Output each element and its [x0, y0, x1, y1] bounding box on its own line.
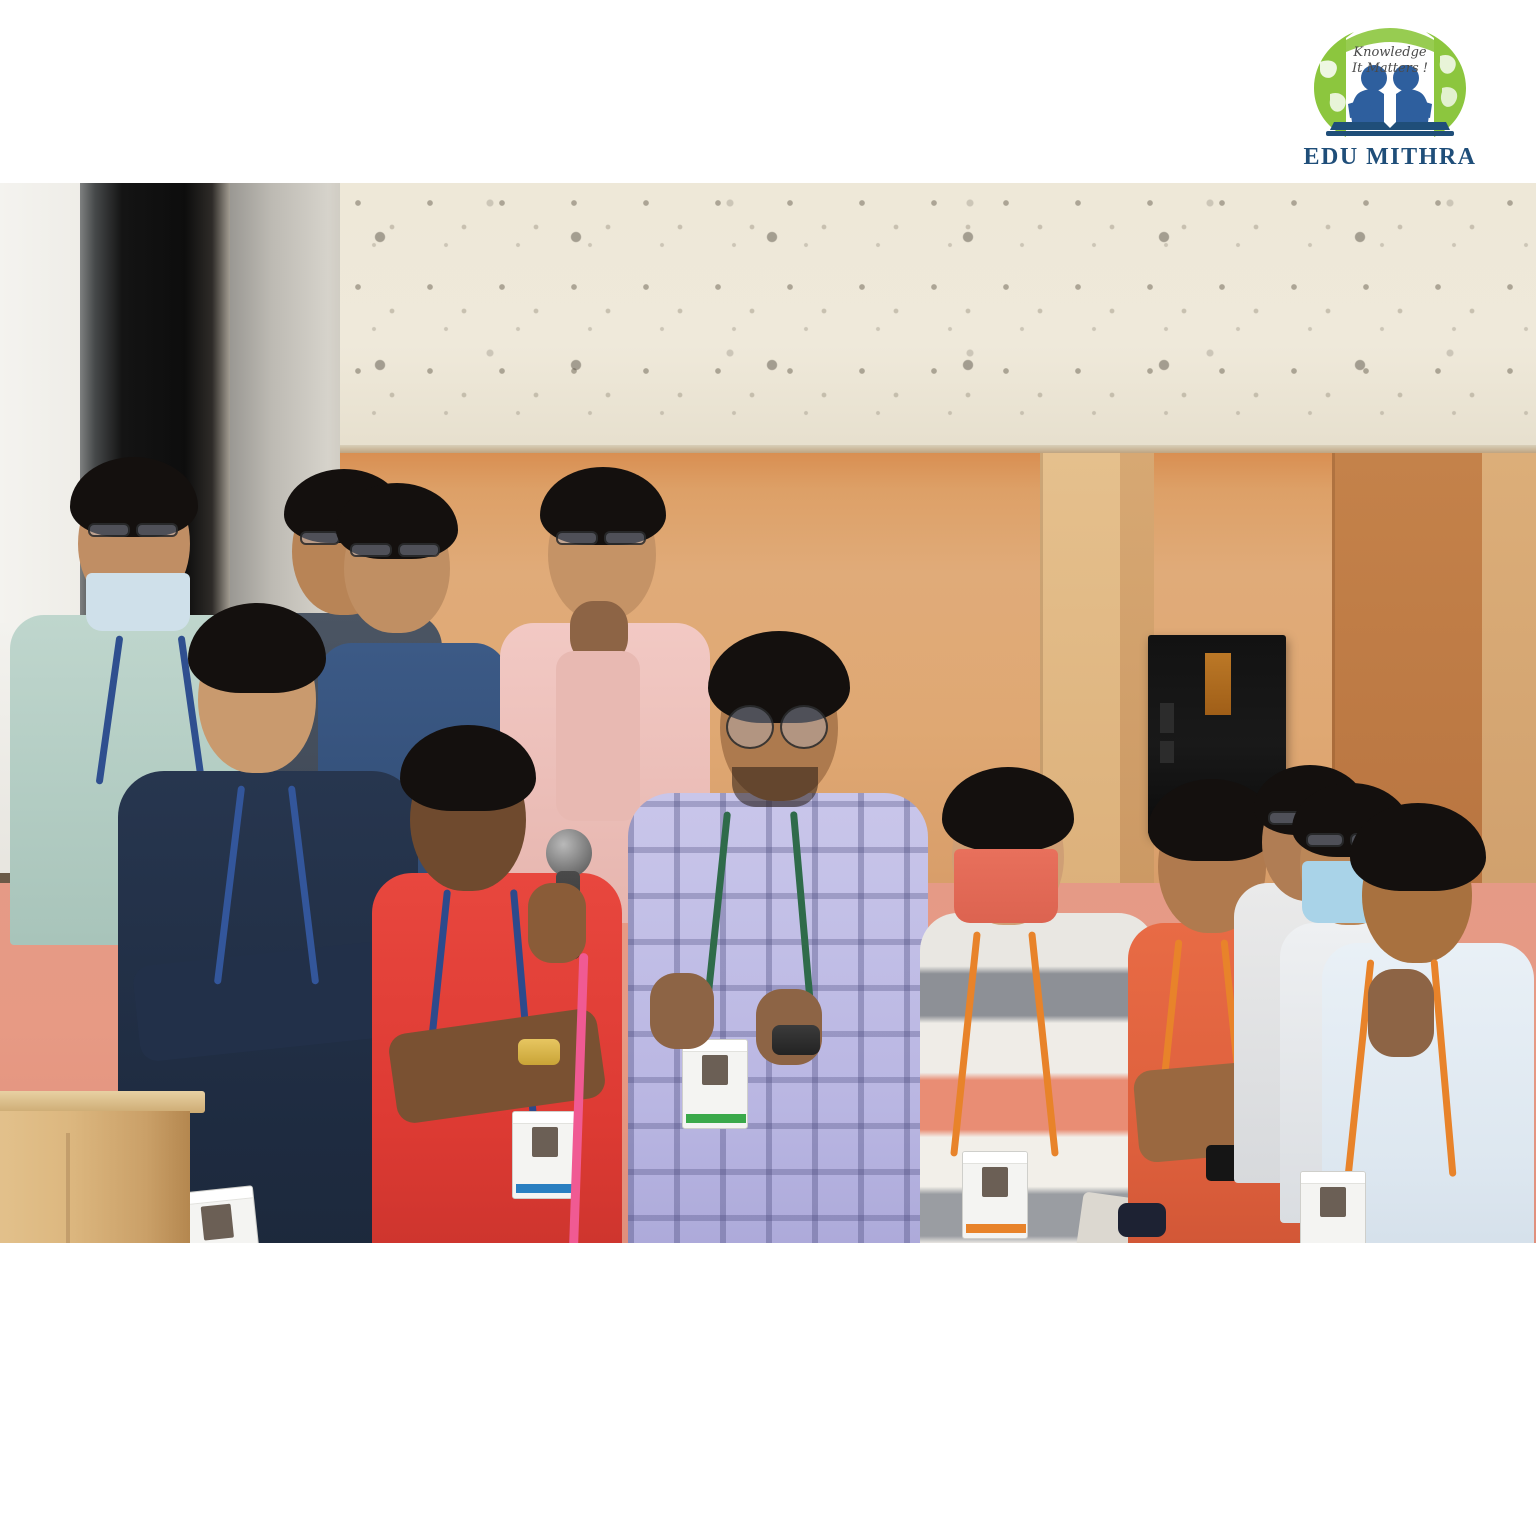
- loudspeaker-port-upper: [1160, 703, 1174, 733]
- person-beard: [732, 767, 818, 807]
- poster-header: Knowledge It Matters ! EDU MITHRA: [0, 0, 1536, 183]
- id-badge-header: [963, 1152, 1027, 1164]
- wristwatch: [518, 1039, 560, 1065]
- wristwatch: [772, 1025, 820, 1055]
- id-badge-photo: [702, 1055, 728, 1085]
- background-acoustic-panel-holes: [340, 183, 1536, 453]
- eyeglasses-right-lens: [398, 543, 440, 557]
- edu-mithra-brand-text: EDU MITHRA: [1290, 144, 1490, 171]
- eyeglasses-left-lens: [88, 523, 130, 537]
- id-badge-photo: [982, 1167, 1008, 1197]
- wooden-lectern-groove: [66, 1133, 70, 1243]
- person-hand: [650, 973, 714, 1049]
- microphone-head-icon: [546, 829, 592, 877]
- eyeglasses-right-lens: [604, 531, 646, 545]
- id-badge-header: [1301, 1172, 1365, 1184]
- eyeglasses-left-lens: [1306, 833, 1344, 847]
- edu-mithra-logo-graphic: Knowledge It Matters !: [1290, 18, 1490, 158]
- id-badge: [682, 1039, 748, 1129]
- eyeglasses-left-lens: [300, 531, 340, 545]
- person-arm: [556, 651, 640, 821]
- background-wood-column-4: [1482, 453, 1536, 913]
- wooden-lectern-top: [0, 1091, 205, 1113]
- person-hand: [1368, 969, 1434, 1057]
- id-badge: [1300, 1171, 1366, 1243]
- id-badge: [962, 1151, 1028, 1239]
- id-badge-photo: [532, 1127, 558, 1157]
- face-mask: [954, 849, 1058, 923]
- eyeglasses-left-lens: [556, 531, 598, 545]
- logo-tagline-line2: It Matters !: [1351, 61, 1428, 76]
- id-badge-name-bar: [516, 1184, 576, 1193]
- id-badge-header: [513, 1112, 577, 1124]
- eyeglasses-left-lens: [350, 543, 392, 557]
- loudspeaker-grill: [1205, 653, 1231, 715]
- event-photograph: [0, 183, 1536, 1243]
- face-mask: [86, 573, 190, 631]
- wooden-lectern-body: [0, 1111, 190, 1243]
- eyeglasses-right-lens: [136, 523, 178, 537]
- wristwatch: [1118, 1203, 1166, 1237]
- loudspeaker-port-lower: [1160, 741, 1174, 763]
- eyeglasses-left-lens: [726, 705, 774, 749]
- poster-footer: Indian Space Science Olympiad 2023 www.s…: [0, 1243, 1536, 1536]
- person-hand-holding-microphone: [528, 883, 586, 963]
- poster-root: Knowledge It Matters ! EDU MITHRA: [0, 0, 1536, 1536]
- id-badge-name-bar: [966, 1224, 1026, 1233]
- edu-mithra-logo: Knowledge It Matters ! EDU MITHRA: [1290, 18, 1490, 178]
- id-badge-name-bar: [686, 1114, 746, 1123]
- eyeglasses-right-lens: [780, 705, 828, 749]
- logo-tagline-line1: Knowledge: [1352, 45, 1427, 60]
- id-badge: [512, 1111, 578, 1199]
- id-badge-photo: [201, 1204, 234, 1241]
- id-badge-photo: [1320, 1187, 1346, 1217]
